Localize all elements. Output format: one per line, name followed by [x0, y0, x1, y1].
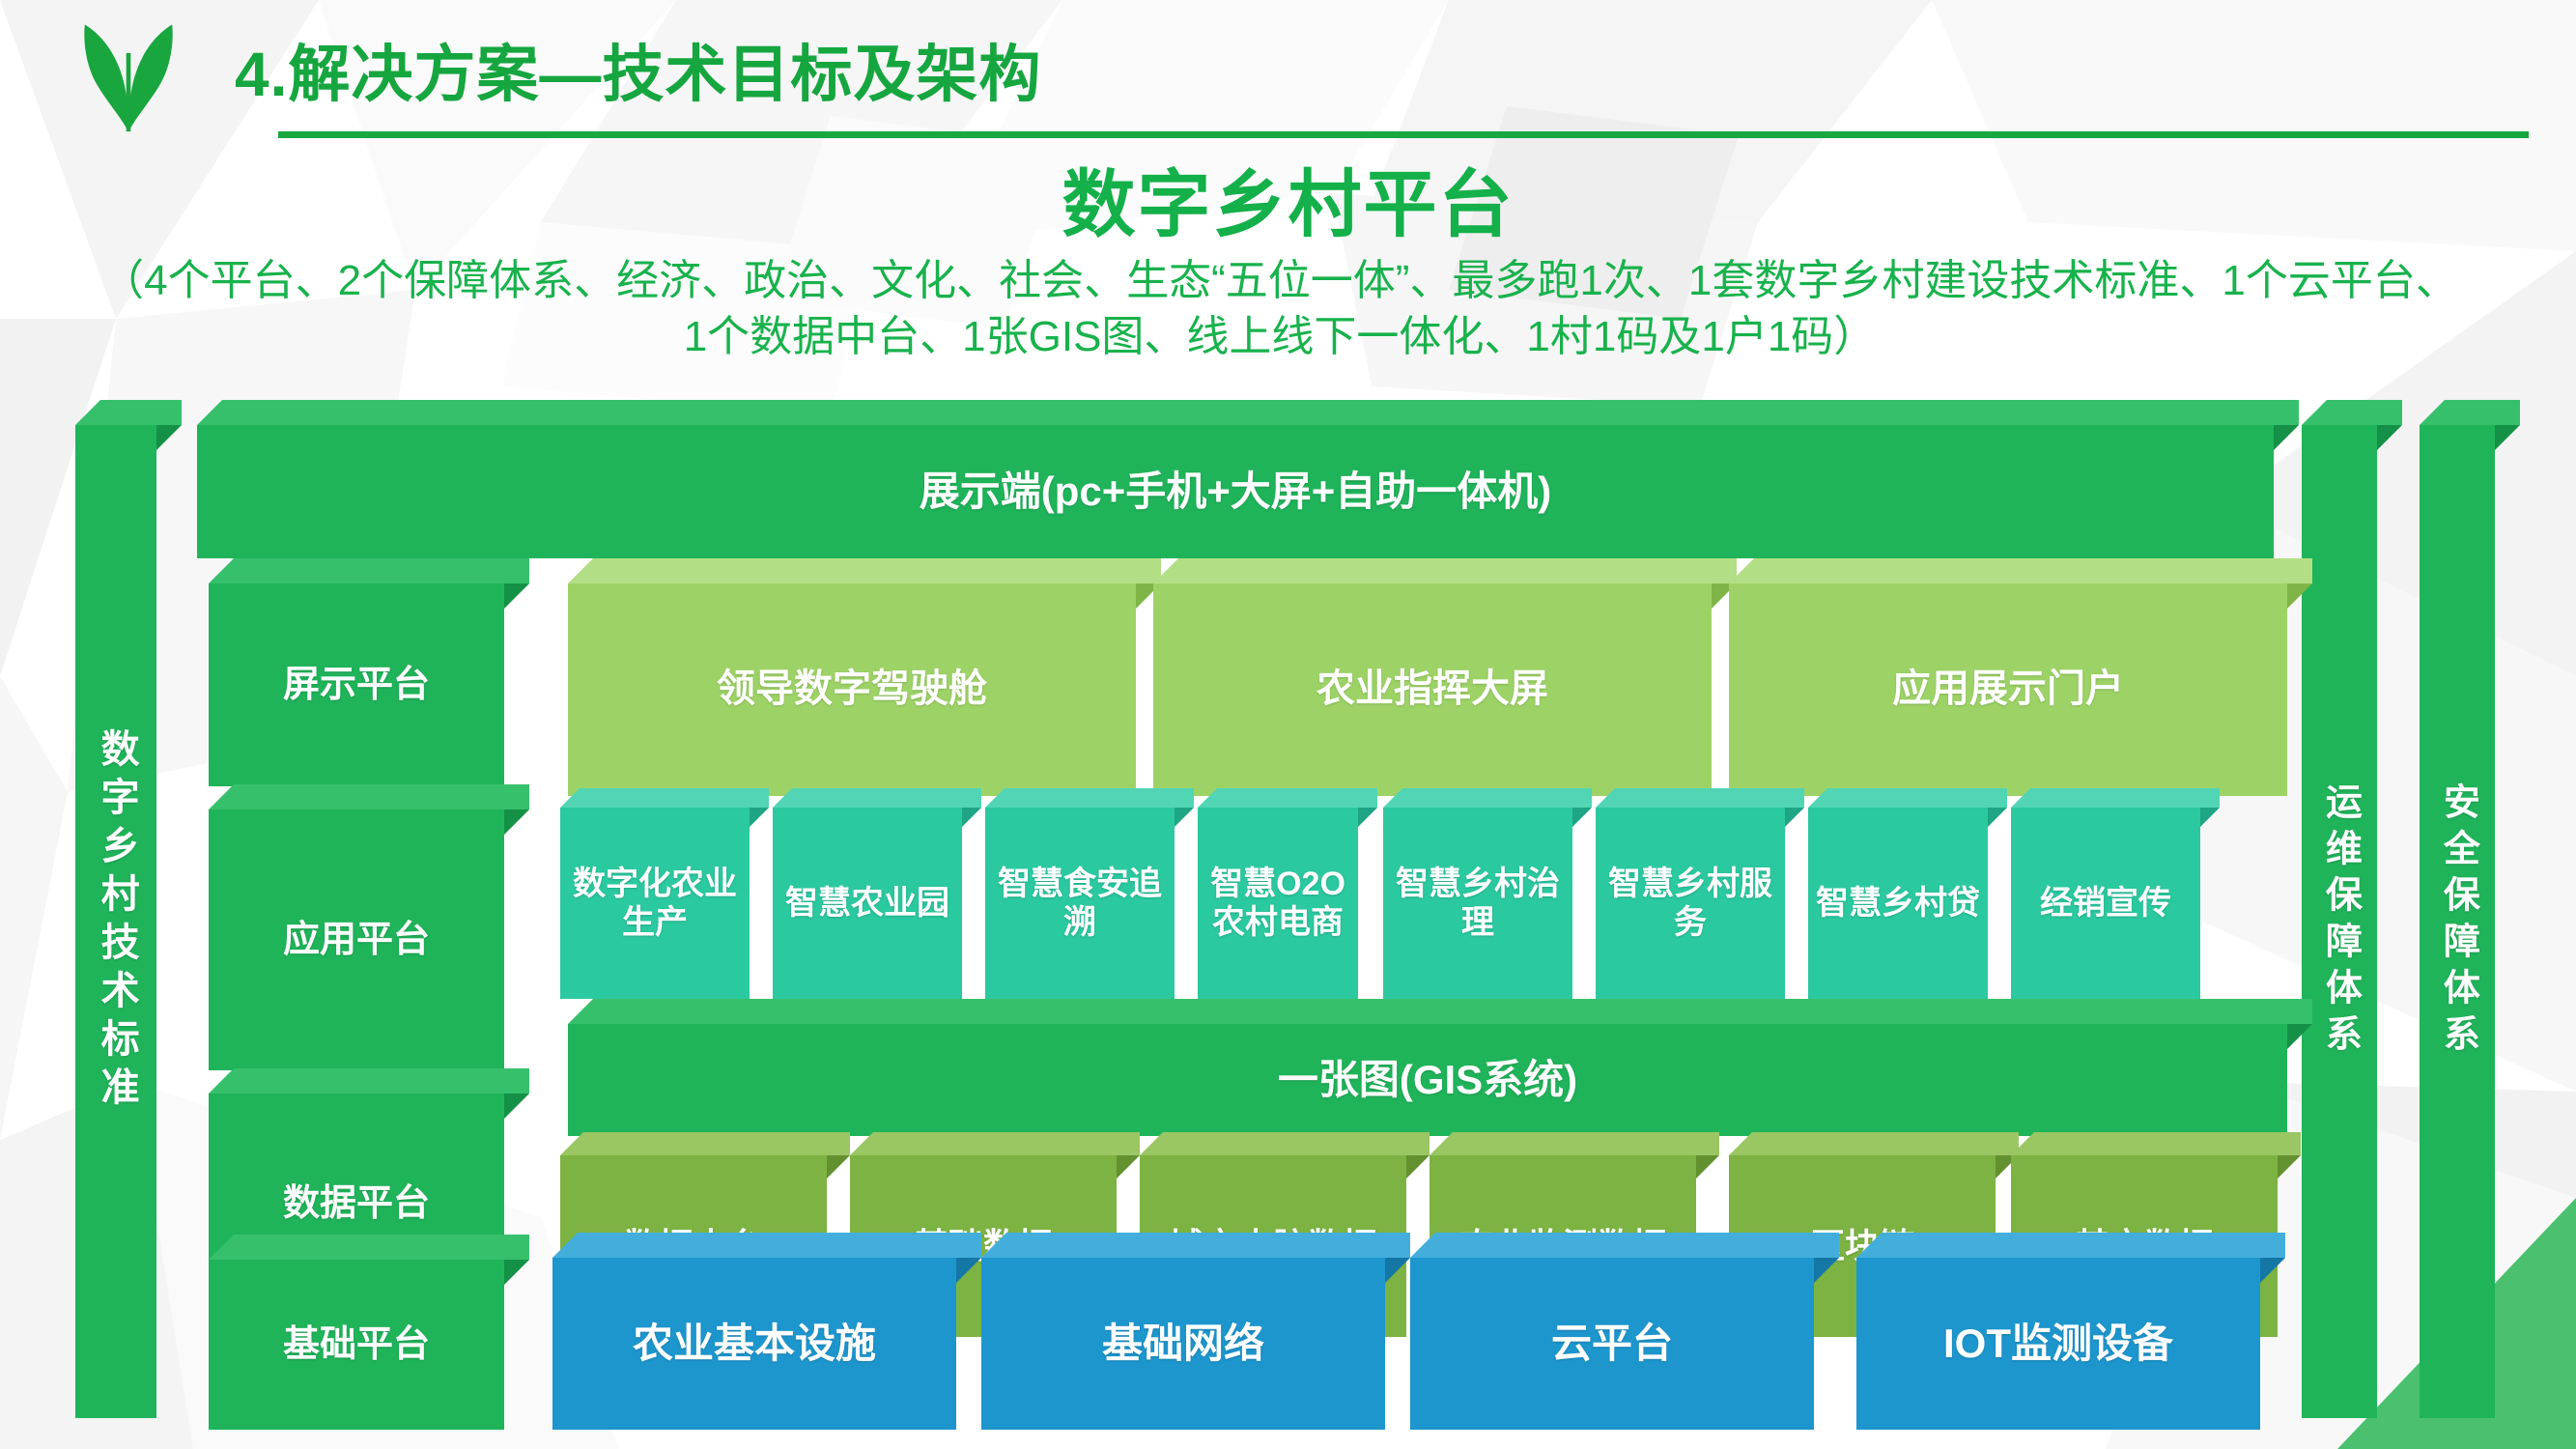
base-box-cloud-platform[interactable]: 云平台 [1410, 1258, 1814, 1430]
tier-label-display[interactable]: 屏示平台 [209, 583, 504, 786]
app-box-marketing-promotion[interactable]: 经销宣传 [2011, 808, 2200, 999]
display-box-portal[interactable]: 应用展示门户 [1729, 583, 2287, 796]
app-box-food-safety[interactable]: 智慧食安追溯 [985, 808, 1175, 999]
main-subtitle: （4个平台、2个保障体系、经济、政治、文化、社会、生态“五位一体”、最多跑1次、… [92, 253, 2468, 365]
base-box-basic-network[interactable]: 基础网络 [981, 1258, 1385, 1430]
mid-bar-gis[interactable]: 一张图(GIS系统) [568, 1024, 2287, 1136]
app-box-smart-farm[interactable]: 智慧农业园 [773, 808, 962, 999]
top-bar-presentation[interactable]: 展示端(pc+手机+大屏+自助一体机) [197, 425, 2274, 558]
app-box-village-service[interactable]: 智慧乡村服务 [1596, 808, 1785, 999]
architecture-diagram: 数字乡村技术标准 运维保障体系 安全保障体系 展示端(pc+手机+大屏+自助一体… [0, 394, 2576, 1449]
display-box-command-screen[interactable]: 农业指挥大屏 [1153, 583, 1712, 796]
title-underline [278, 131, 2529, 138]
slide-header: 4.解决方案—技术目标及架构 [0, 0, 2576, 155]
right-pillar-security[interactable]: 安全保障体系 [2420, 425, 2495, 1418]
tier-label-application[interactable]: 应用平台 [209, 810, 504, 1070]
app-box-o2o-ecommerce[interactable]: 智慧O2O农村电商 [1198, 808, 1358, 999]
base-box-agri-infrastructure[interactable]: 农业基本设施 [552, 1258, 956, 1430]
base-box-iot-devices[interactable]: IOT监测设备 [1856, 1258, 2260, 1430]
app-box-village-governance[interactable]: 智慧乡村治理 [1383, 808, 1572, 999]
right-pillar-ops[interactable]: 运维保障体系 [2302, 425, 2377, 1418]
page-title: 4.解决方案—技术目标及架构 [235, 25, 1041, 114]
tier-label-infrastructure[interactable]: 基础平台 [209, 1260, 504, 1430]
display-box-cockpit[interactable]: 领导数字驾驶舱 [568, 583, 1136, 796]
app-box-village-loan[interactable]: 智慧乡村贷 [1808, 808, 1988, 999]
left-pillar-standard[interactable]: 数字乡村技术标准 [75, 425, 156, 1418]
main-heading: 数字乡村平台 [0, 145, 2576, 251]
leaf-logo-icon [75, 17, 182, 133]
app-box-digital-production[interactable]: 数字化农业生产 [560, 808, 750, 999]
